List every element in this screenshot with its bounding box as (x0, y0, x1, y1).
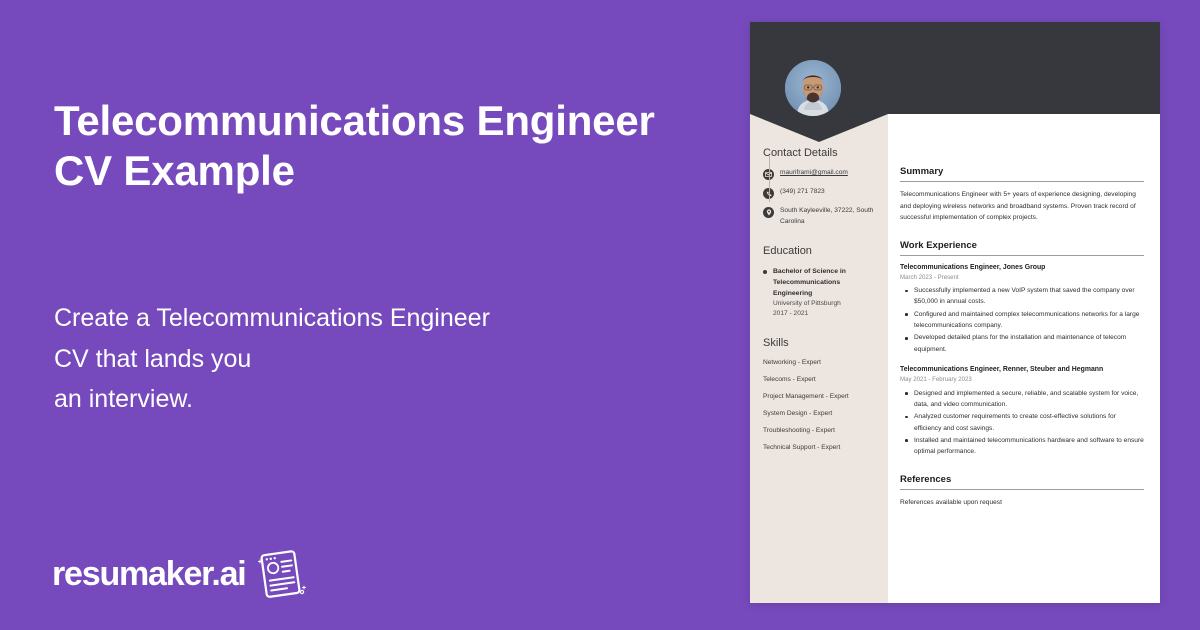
job-bullet-list: Designed and implemented a secure, relia… (900, 388, 1144, 458)
education-item-body: Bachelor of Science in Telecommunication… (773, 266, 876, 320)
references-section: References References available upon req… (900, 474, 1144, 509)
page-title: Telecommunications Engineer CV Example (54, 96, 694, 197)
job-bullet: Designed and implemented a secure, relia… (900, 388, 1144, 411)
skill-item: System Design - Expert (763, 410, 876, 417)
skills-heading: Skills (763, 337, 876, 349)
references-text: References available upon request (900, 497, 1144, 509)
education-heading: Education (763, 245, 876, 257)
cv-sidebar-content: Contact Details mauriframi@gmail.com (34… (750, 147, 888, 451)
cv-preview-card[interactable]: Mauri Frami Telecommunications Engineer … (750, 22, 1160, 603)
promo-panel: Telecommunications Engineer CV Example C… (0, 0, 740, 630)
headline-line-1: Telecommunications Engineer (54, 97, 655, 144)
resume-document-icon (254, 548, 308, 600)
summary-section: Summary Telecommunications Engineer with… (900, 166, 1144, 224)
bullet-dot-icon (763, 270, 767, 274)
job-bullet: Configured and maintained complex teleco… (900, 309, 1144, 332)
skills-section: Skills Networking - Expert Telecoms - Ex… (763, 337, 876, 451)
job-bullet: Analyzed customer requirements to create… (900, 411, 1144, 434)
job-entry: Telecommunications Engineer, Jones Group… (900, 263, 1144, 355)
skill-item: Networking - Expert (763, 359, 876, 366)
job-bullet-list: Successfully implemented a new VoIP syst… (900, 285, 1144, 355)
summary-text: Telecommunications Engineer with 5+ year… (900, 189, 1144, 224)
job-bullet: Installed and maintained telecommunicati… (900, 435, 1144, 458)
skill-item: Troubleshooting - Expert (763, 427, 876, 434)
headline-line-2: CV Example (54, 147, 295, 194)
job-dates: March 2023 - Present (900, 273, 1144, 282)
skill-item: Telecoms - Expert (763, 376, 876, 383)
timeline-bar (769, 155, 770, 202)
resumaker-logo[interactable]: resumaker.ai (52, 548, 308, 600)
work-experience-heading: Work Experience (900, 240, 1144, 256)
contact-address-value: South Kayleeville, 37222, South Carolina (780, 206, 876, 228)
promo-subtitle: Create a Telecommunications Engineer CV … (54, 298, 674, 420)
education-item: Bachelor of Science in Telecommunication… (763, 266, 876, 320)
subtitle-line-3: an interview. (54, 379, 674, 420)
contact-phone-value: (349) 271 7823 (780, 187, 825, 198)
subtitle-line-2: CV that lands you (54, 339, 674, 380)
education-degree: Bachelor of Science in Telecommunication… (773, 266, 876, 299)
references-heading: References (900, 474, 1144, 490)
cv-main-content: Summary Telecommunications Engineer with… (888, 114, 1160, 524)
skill-item: Project Management - Expert (763, 393, 876, 400)
contact-email-value[interactable]: mauriframi@gmail.com (780, 168, 848, 179)
job-bullet: Developed detailed plans for the install… (900, 332, 1144, 355)
job-entry: Telecommunications Engineer, Renner, Ste… (900, 365, 1144, 457)
job-title: Telecommunications Engineer, Jones Group (900, 263, 1144, 273)
skill-item: Technical Support - Expert (763, 444, 876, 451)
education-school: University of Pittsburgh (773, 299, 876, 310)
contact-row-address: South Kayleeville, 37222, South Carolina (763, 206, 876, 228)
avatar (785, 60, 841, 116)
contact-row-email[interactable]: mauriframi@gmail.com (763, 168, 876, 180)
education-section: Education Bachelor of Science in Telecom… (763, 245, 876, 320)
education-dates: 2017 - 2021 (773, 309, 876, 320)
summary-heading: Summary (900, 166, 1144, 182)
job-bullet: Successfully implemented a new VoIP syst… (900, 285, 1144, 308)
job-title: Telecommunications Engineer, Renner, Ste… (900, 365, 1144, 375)
contact-row-phone: (349) 271 7823 (763, 187, 876, 199)
location-pin-icon (763, 207, 774, 218)
work-experience-section: Work Experience Telecommunications Engin… (900, 240, 1144, 458)
contact-details-heading: Contact Details (763, 147, 876, 159)
subtitle-line-1: Create a Telecommunications Engineer (54, 298, 674, 339)
job-dates: May 2021 - February 2023 (900, 375, 1144, 384)
logo-wordmark: resumaker.ai (52, 557, 246, 591)
